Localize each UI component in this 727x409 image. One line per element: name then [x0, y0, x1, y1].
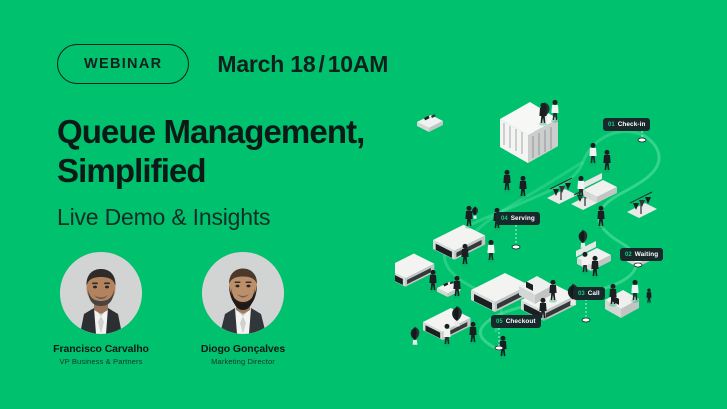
- webinar-badge[interactable]: WEBINAR: [57, 44, 189, 84]
- page-subtitle: Live Demo & Insights: [57, 204, 437, 231]
- speaker-list: Francisco Carvalho VP Business & Partner…: [52, 252, 292, 366]
- speaker-role: VP Business & Partners: [52, 357, 150, 366]
- speaker-card: Diogo Gonçalves Marketing Director: [194, 252, 292, 366]
- speaker-card: Francisco Carvalho VP Business & Partner…: [52, 252, 150, 366]
- speaker-name: Diogo Gonçalves: [194, 343, 292, 355]
- speaker-role: Marketing Director: [194, 357, 292, 366]
- step-number: 02: [625, 252, 632, 258]
- step-label: Waiting: [635, 251, 659, 258]
- webinar-badge-label: WEBINAR: [84, 56, 162, 72]
- step-tag-checkout[interactable]: 05 Checkout: [491, 315, 541, 328]
- step-tag-check-in[interactable]: 01 Check-in: [603, 118, 650, 131]
- step-label: Serving: [511, 215, 535, 222]
- datetime-separator: /: [316, 51, 328, 77]
- page-title: Queue Management, Simplified: [57, 113, 397, 191]
- step-tag-serving[interactable]: 04 Serving: [496, 212, 540, 225]
- event-time: 10AM: [328, 51, 389, 77]
- step-number: 04: [501, 216, 508, 222]
- step-number: 03: [578, 291, 585, 297]
- step-label: Checkout: [506, 318, 536, 325]
- step-tag-call[interactable]: 03 Call: [573, 287, 605, 300]
- event-datetime: March 18/10AM: [217, 51, 388, 78]
- header-row: WEBINAR March 18/10AM: [57, 40, 437, 88]
- isometric-scene: [395, 100, 727, 390]
- step-number: 05: [496, 319, 503, 325]
- speaker-name: Francisco Carvalho: [52, 343, 150, 355]
- step-label: Check-in: [618, 121, 646, 128]
- avatar: [202, 252, 284, 334]
- avatar: [60, 252, 142, 334]
- store-journey-illustration: 01 Check-in 02 Waiting 03 Call 04 Servin…: [395, 100, 727, 390]
- step-number: 01: [608, 122, 615, 128]
- step-label: Call: [588, 290, 600, 297]
- step-tag-waiting[interactable]: 02 Waiting: [620, 248, 663, 261]
- hero-content: WEBINAR March 18/10AM Queue Management, …: [57, 40, 437, 231]
- webinar-banner: WEBINAR March 18/10AM Queue Management, …: [0, 0, 727, 409]
- event-date: March 18: [217, 51, 315, 77]
